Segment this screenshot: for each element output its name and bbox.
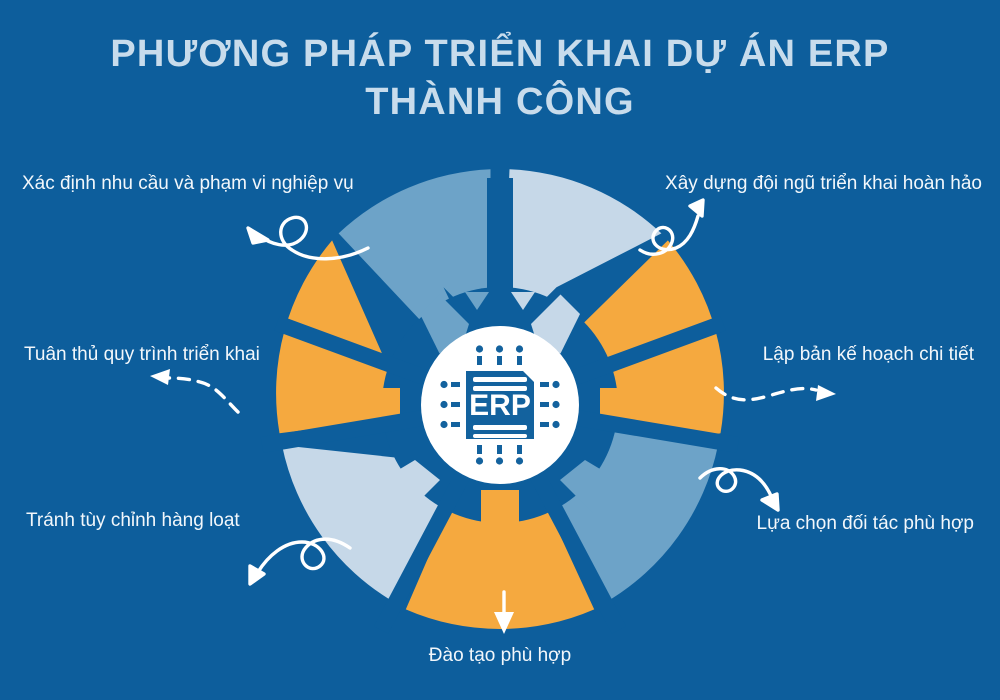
label-detailed-plan[interactable]: Lập bản kế hoạch chi tiết — [763, 343, 974, 367]
label-training[interactable]: Đào tạo phù hợp — [0, 644, 1000, 668]
label-define-needs[interactable]: Xác định nhu cầu và phạm vi nghiệp vụ — [22, 172, 354, 196]
dashed-arrow-right-icon — [716, 388, 816, 400]
label-choose-partner[interactable]: Lựa chọn đối tác phù hợp — [757, 512, 974, 536]
label-avoid-customization[interactable]: Tránh tùy chỉnh hàng loạt — [26, 509, 240, 533]
infographic-page: PHƯƠNG PHÁP TRIỂN KHAI DỰ ÁN ERP THÀNH C… — [0, 0, 1000, 700]
label-build-team[interactable]: Xây dựng đội ngũ triển khai hoàn hảo — [665, 172, 982, 196]
dashed-arrow-left-icon — [166, 378, 238, 412]
dashed-arrow-left-head — [150, 369, 170, 385]
label-follow-process[interactable]: Tuân thủ quy trình triển khai — [24, 343, 260, 367]
straight-arrow-down-icon — [494, 592, 514, 634]
dashed-arrow-right-head — [816, 385, 836, 401]
curly-arrow-down-right-icon — [700, 469, 778, 510]
curly-arrow-left-icon — [248, 217, 368, 258]
curly-arrow-up-right-icon — [640, 200, 703, 254]
curly-arrow-down-left-icon — [250, 539, 350, 584]
